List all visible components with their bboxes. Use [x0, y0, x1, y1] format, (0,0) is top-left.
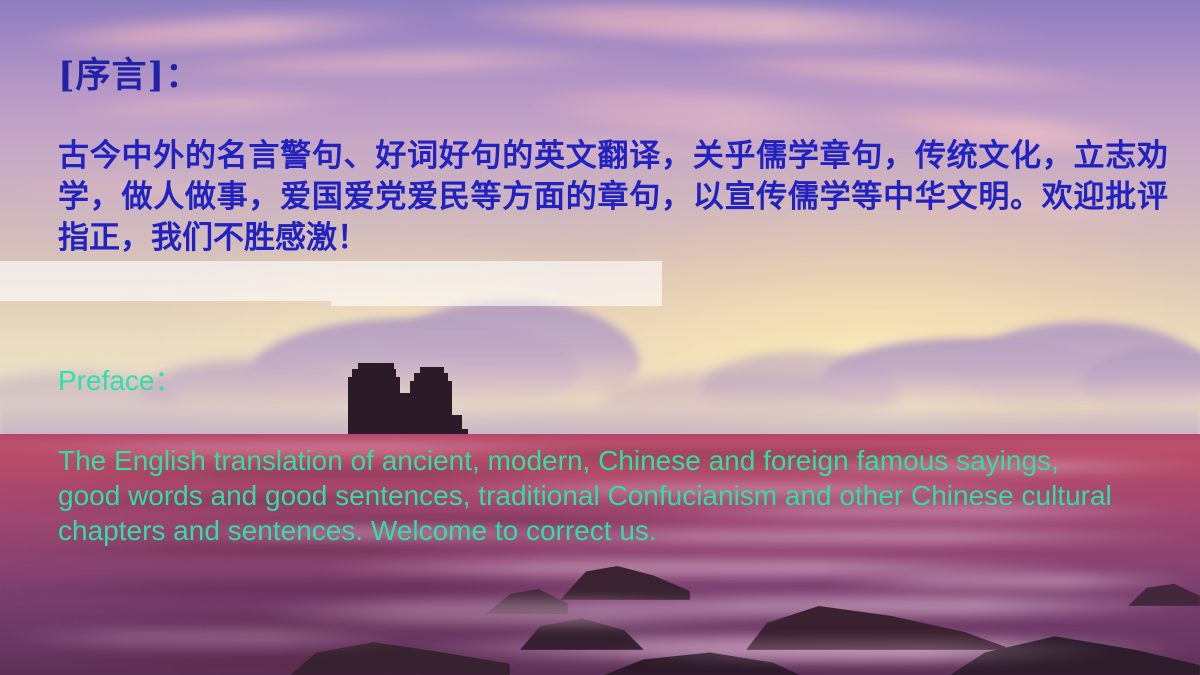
english-body-paragraph: The English translation of ancient, mode…: [58, 443, 1118, 548]
background-photo: [0, 0, 1200, 675]
water-mist: [0, 628, 420, 648]
chinese-body-paragraph: 古今中外的名言警句、好词好句的英文翻译，关乎儒学章句，传统文化，立志劝学，做人做…: [58, 136, 1168, 259]
water-mist: [240, 600, 800, 626]
chinese-title: [序言]：: [58, 47, 201, 98]
text-backdrop-band-right: [331, 261, 662, 306]
horizon-haze: [0, 398, 1200, 438]
water-streak: [820, 574, 1200, 588]
text-backdrop-band-left: [0, 261, 331, 301]
water-mist: [600, 640, 1120, 662]
slide-canvas: [序言]： 古今中外的名言警句、好词好句的英文翻译，关乎儒学章句，传统文化，立志…: [0, 0, 1200, 675]
english-title: Preface：: [58, 359, 183, 399]
